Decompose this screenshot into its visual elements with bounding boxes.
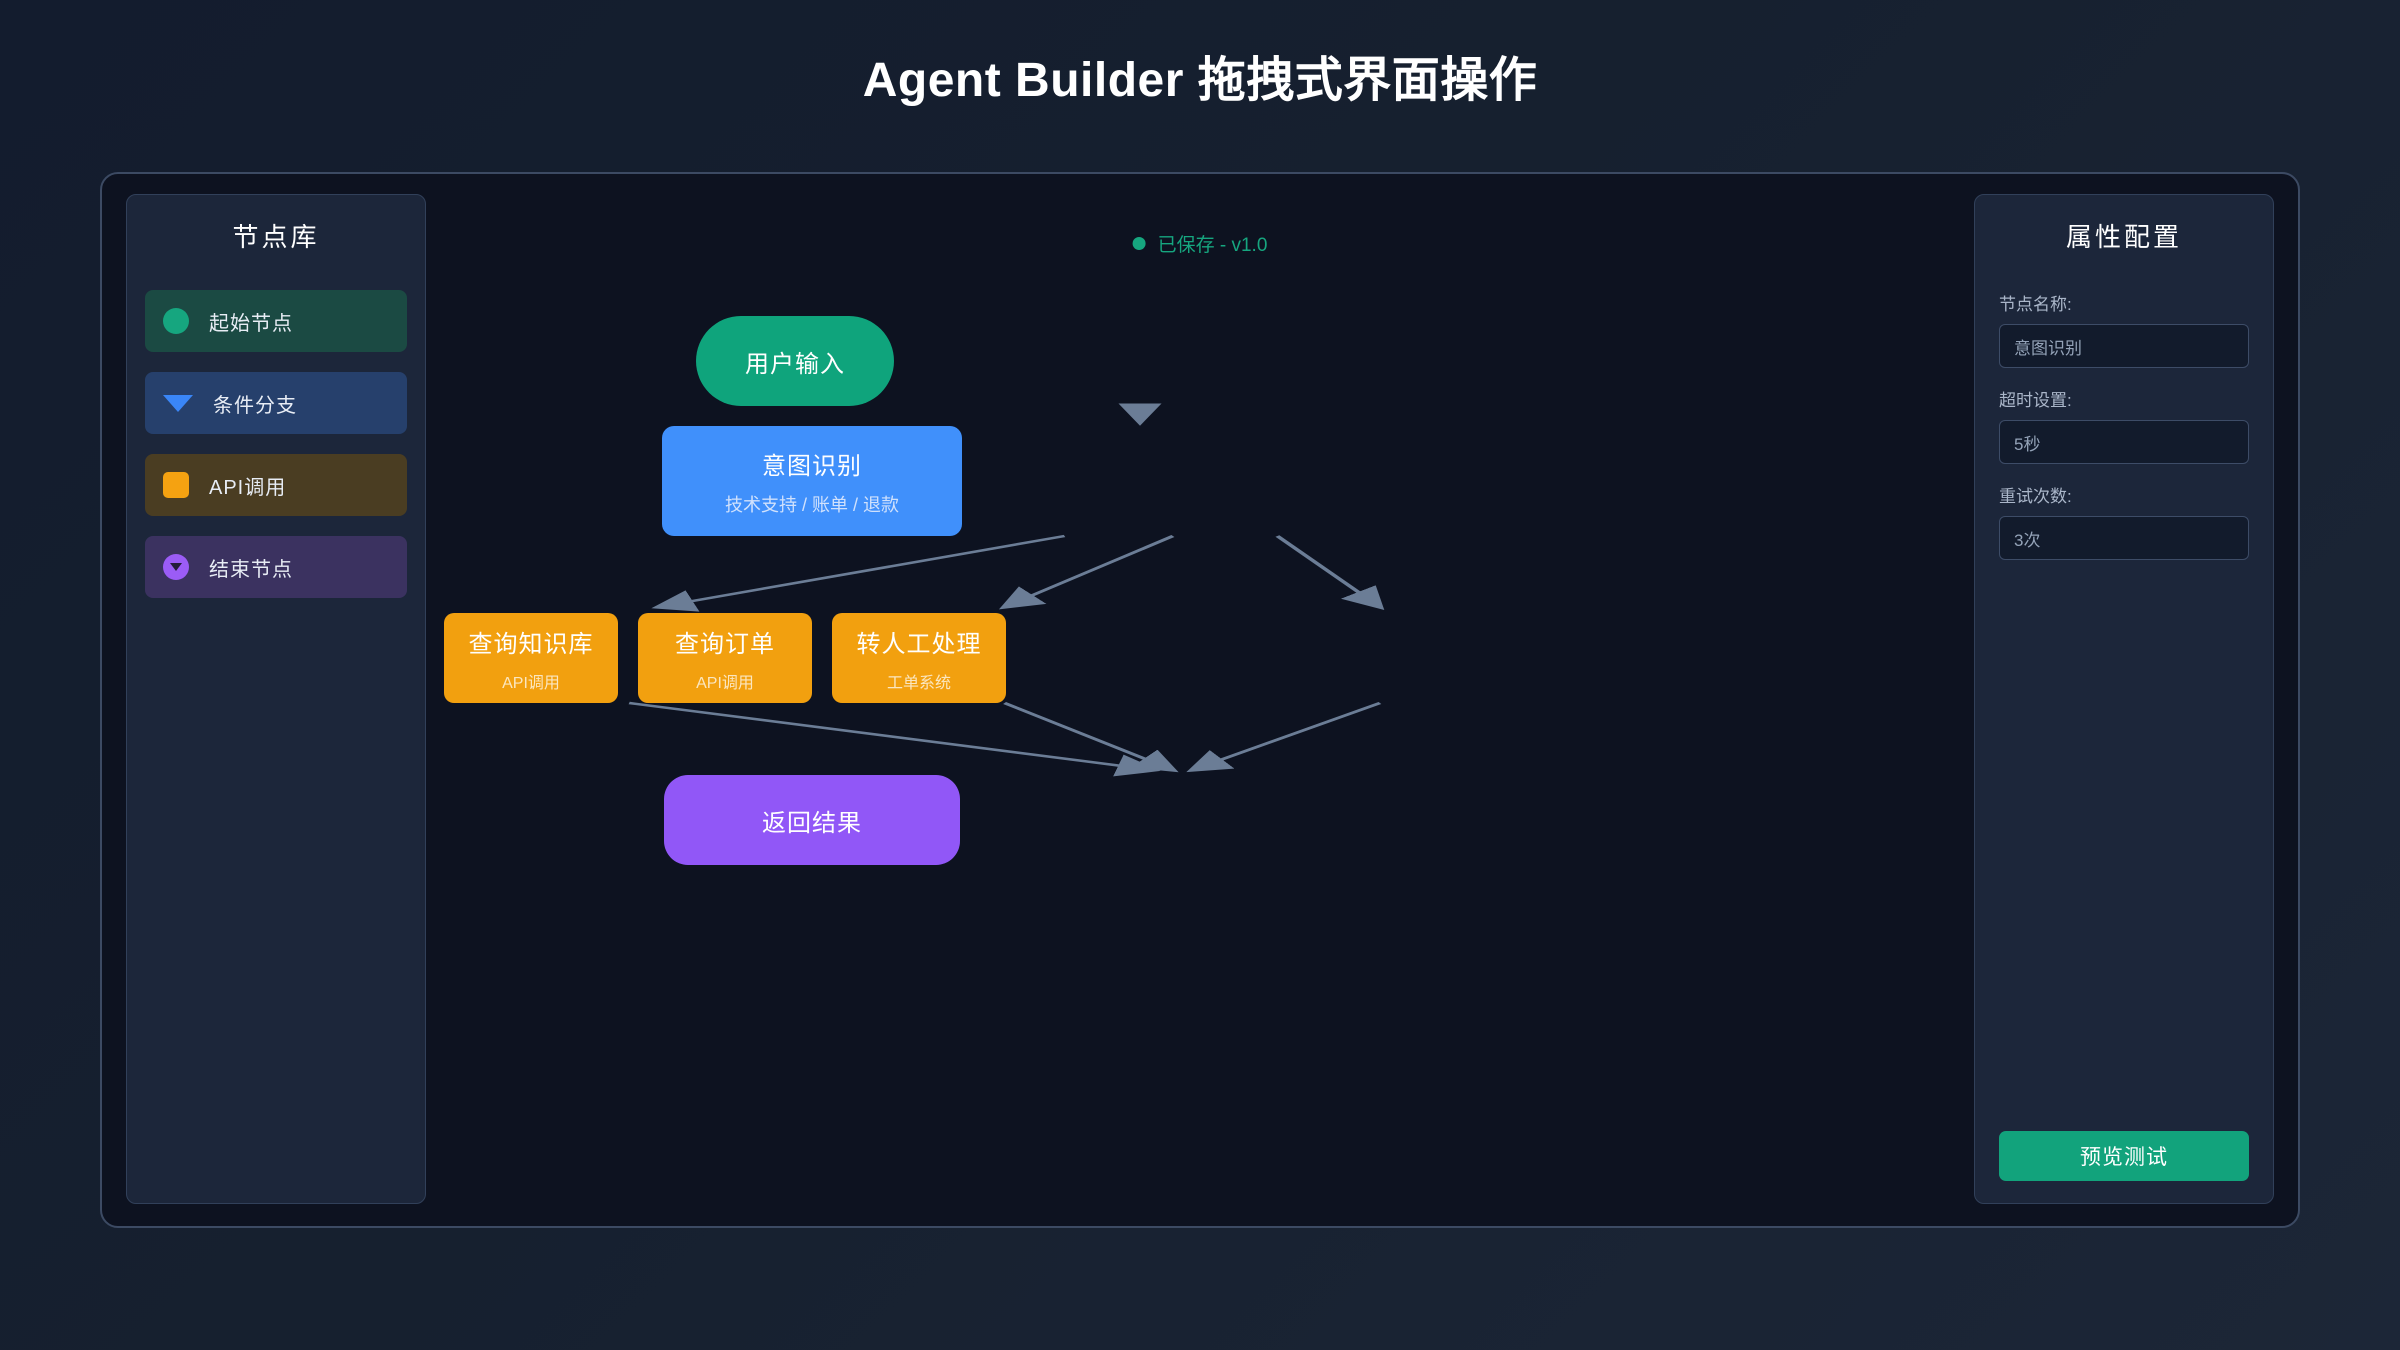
edge-branch-act3 <box>1277 536 1380 607</box>
edge-branch-act1 <box>658 536 1064 607</box>
timeout-input[interactable] <box>1999 420 2249 464</box>
square-orange-icon <box>163 472 189 498</box>
flow-node-title: 意图识别 <box>762 446 862 481</box>
node-name-input[interactable] <box>1999 324 2249 368</box>
library-item-label: 结束节点 <box>209 553 293 582</box>
edge-act3-end <box>1192 703 1380 770</box>
triangle-down-blue-icon <box>163 395 193 412</box>
flow-node-subtitle: API调用 <box>696 669 754 693</box>
edge-branch-act2 <box>1005 536 1173 607</box>
flow-node-subtitle: 技术支持 / 账单 / 退款 <box>725 491 899 517</box>
builder-window: 节点库 起始节点 条件分支 API调用 结束节点 已保存 - <box>100 172 2300 1228</box>
flow-node-end[interactable]: 返回结果 <box>664 775 960 865</box>
preview-test-button[interactable]: 预览测试 <box>1999 1131 2249 1181</box>
flow-node-title: 转人工处理 <box>857 624 982 659</box>
flow-canvas[interactable]: 已保存 - v1.0 <box>426 194 1974 1204</box>
panel-spacer <box>1999 578 2249 1131</box>
node-library-title: 节点库 <box>145 217 407 254</box>
circle-green-icon <box>163 308 189 334</box>
page-title: Agent Builder 拖拽式界面操作 <box>0 40 2400 110</box>
flow-node-query-order[interactable]: 查询订单 API调用 <box>638 613 812 703</box>
property-panel: 属性配置 节点名称: 超时设置: 重试次数: 预览测试 <box>1974 194 2274 1204</box>
library-item-label: API调用 <box>209 471 286 500</box>
field-timeout: 超时设置: <box>1999 386 2249 464</box>
field-label: 节点名称: <box>1999 290 2249 315</box>
flow-node-title: 用户输入 <box>745 344 845 379</box>
flow-node-transfer-to-agent[interactable]: 转人工处理 工单系统 <box>832 613 1006 703</box>
node-library-panel: 节点库 起始节点 条件分支 API调用 结束节点 <box>126 194 426 1204</box>
field-label: 超时设置: <box>1999 386 2249 411</box>
field-retry-count: 重试次数: <box>1999 482 2249 560</box>
flow-node-branch[interactable]: 意图识别 技术支持 / 账单 / 退款 <box>662 426 962 536</box>
flow-node-query-knowledge-base[interactable]: 查询知识库 API调用 <box>444 613 618 703</box>
flow-node-title: 返回结果 <box>762 803 862 838</box>
library-item-start-node[interactable]: 起始节点 <box>145 290 407 352</box>
library-item-condition-branch[interactable]: 条件分支 <box>145 372 407 434</box>
edge-act1-end <box>629 703 1153 770</box>
edge-act2-end <box>1005 703 1173 770</box>
retry-count-input[interactable] <box>1999 516 2249 560</box>
circle-purple-play-icon <box>163 554 189 580</box>
flow-node-subtitle: 工单系统 <box>887 669 951 693</box>
library-item-end-node[interactable]: 结束节点 <box>145 536 407 598</box>
flow-node-subtitle: API调用 <box>502 669 560 693</box>
field-label: 重试次数: <box>1999 482 2249 507</box>
page-root: Agent Builder 拖拽式界面操作 节点库 起始节点 条件分支 API调… <box>0 0 2400 1350</box>
library-item-label: 条件分支 <box>213 389 297 418</box>
flow-node-start[interactable]: 用户输入 <box>696 316 894 406</box>
flow-node-title: 查询知识库 <box>469 624 594 659</box>
flow-node-title: 查询订单 <box>675 624 775 659</box>
library-item-api-call[interactable]: API调用 <box>145 454 407 516</box>
field-node-name: 节点名称: <box>1999 290 2249 368</box>
library-item-label: 起始节点 <box>209 307 293 336</box>
property-panel-title: 属性配置 <box>1999 217 2249 254</box>
